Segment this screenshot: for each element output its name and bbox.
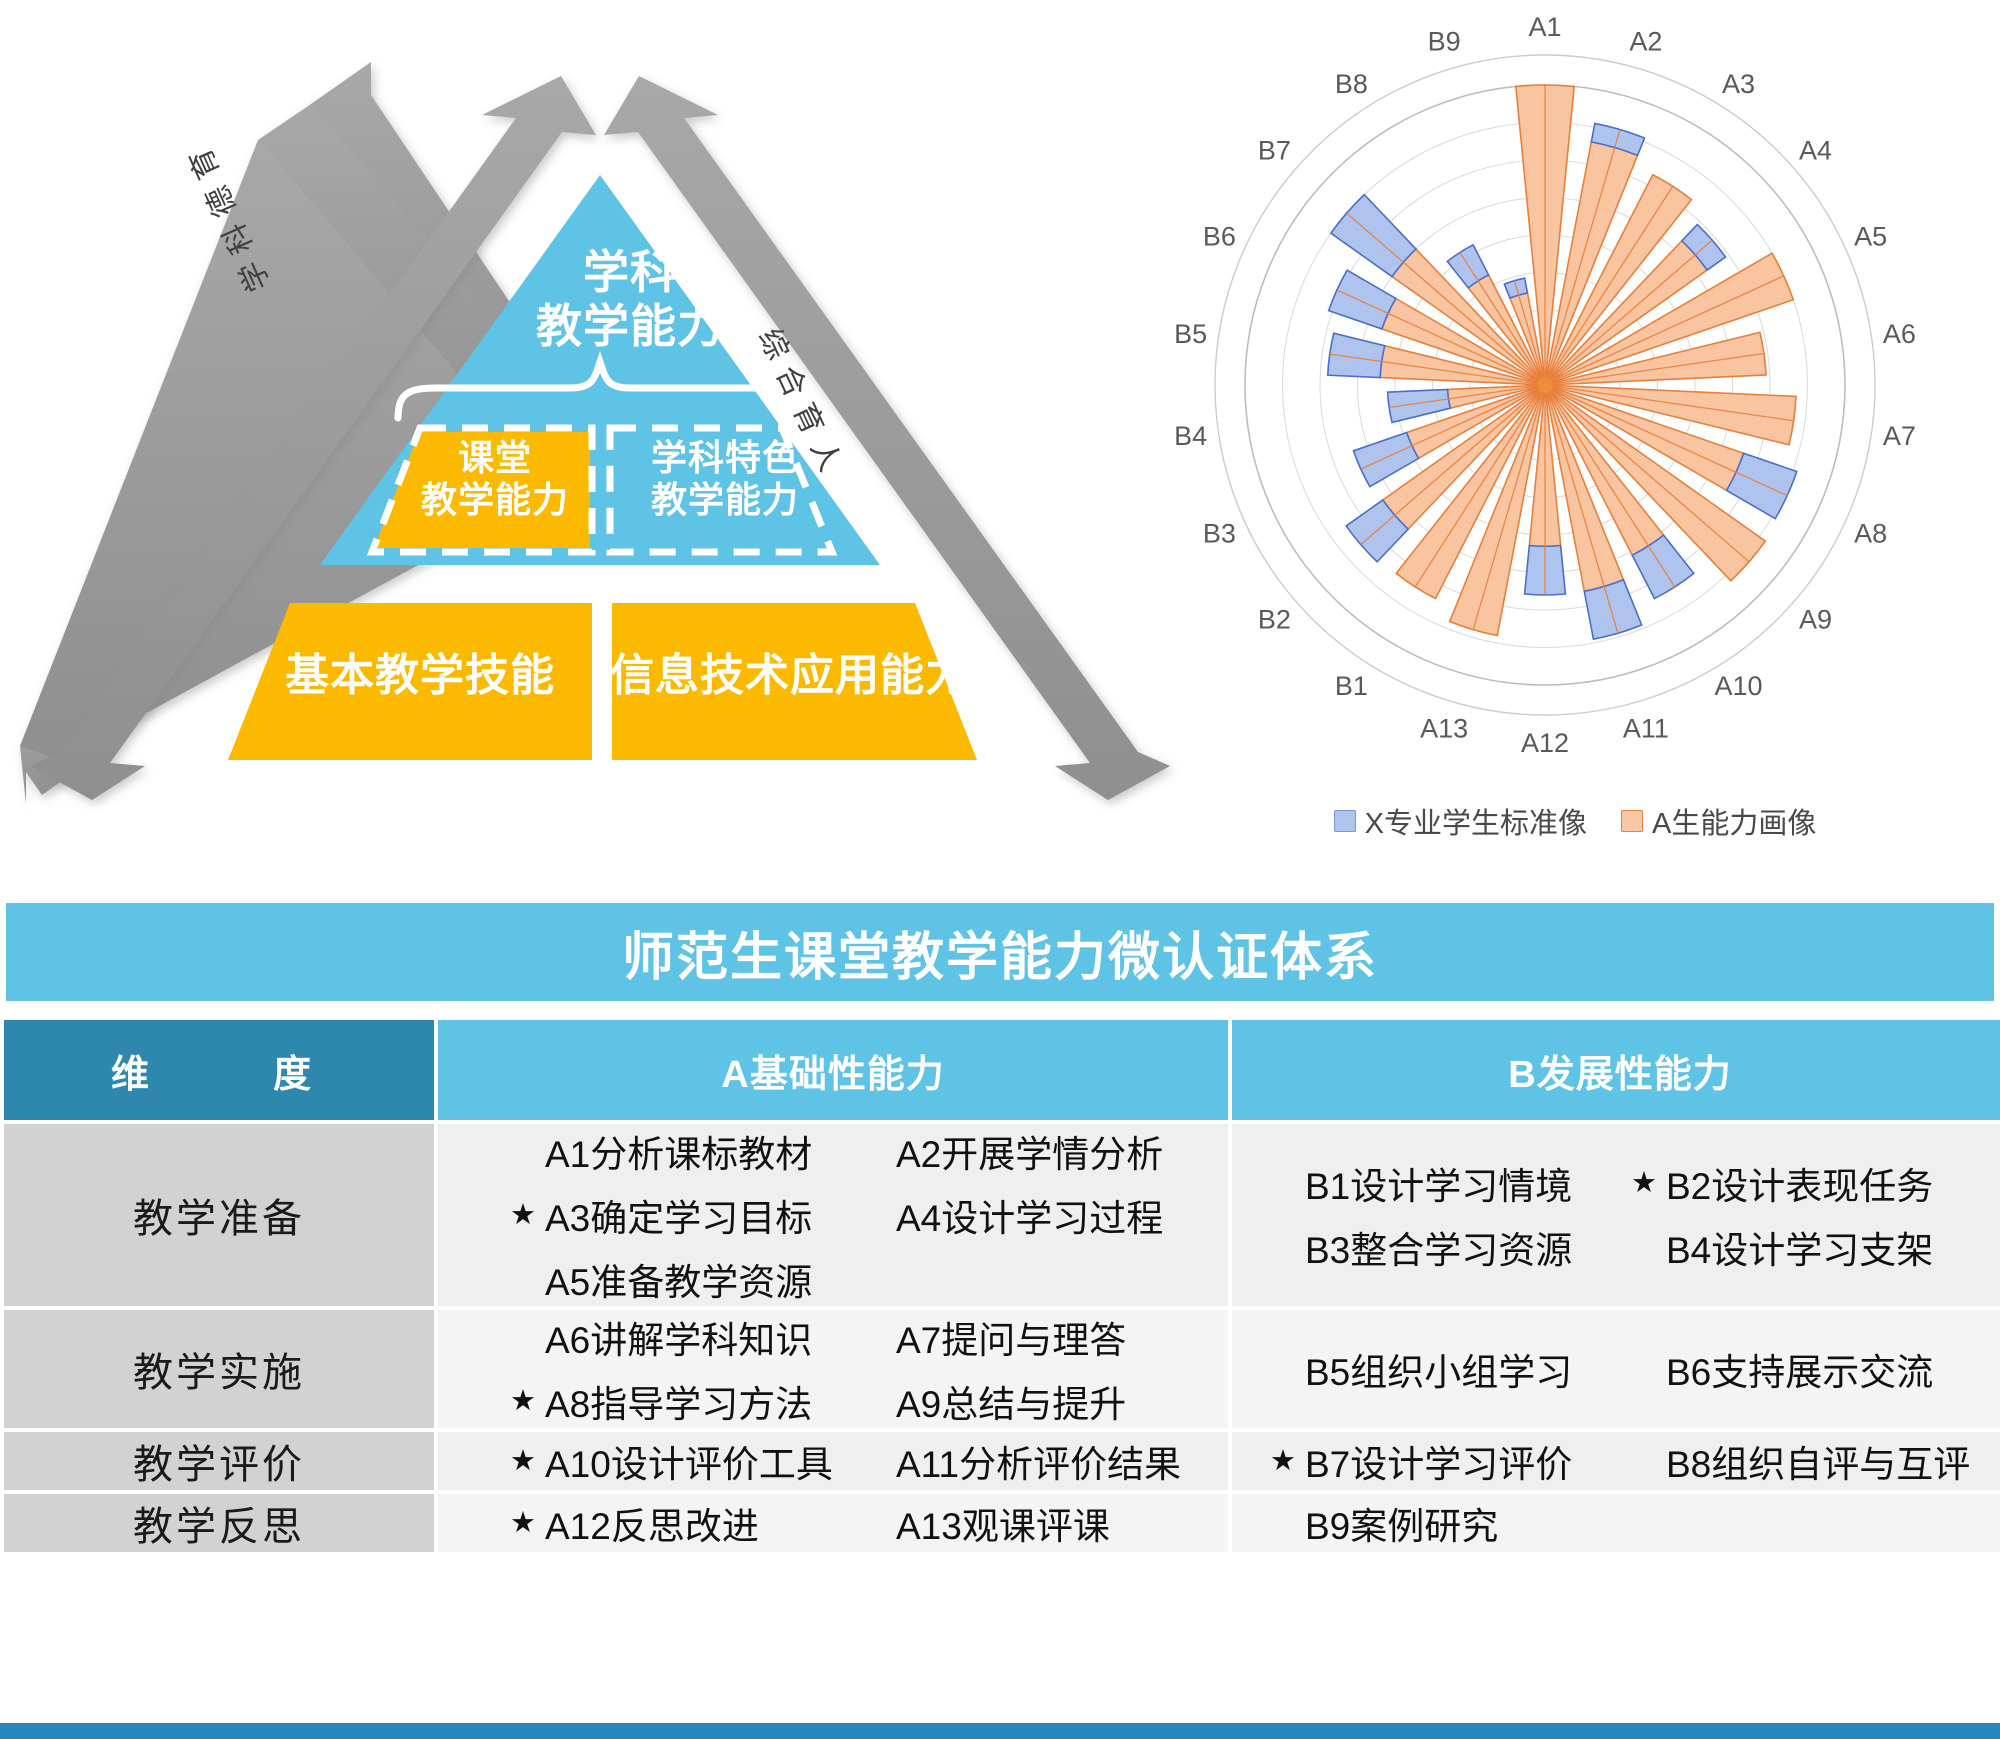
capability-item[interactable]: ★A11分析评价结果 <box>861 1434 1181 1488</box>
category-label: B1 <box>1335 671 1368 701</box>
legend-swatch-blue <box>1334 810 1356 832</box>
table-header-row: 维 度 A基础性能力 B发展性能力 <box>4 1020 2000 1120</box>
header-col-b: B发展性能力 <box>1232 1020 2000 1120</box>
category-label: B8 <box>1335 69 1368 99</box>
category-label: B4 <box>1174 421 1207 451</box>
capability-item-label: A13观课评课 <box>896 1496 1110 1550</box>
header-dimension: 维 度 <box>4 1020 434 1120</box>
polar-sector <box>1584 580 1641 639</box>
it-application-block <box>612 603 977 760</box>
table-row: 教学反思★A12反思改进★A13观课评课★B9案例研究 <box>4 1494 2000 1552</box>
category-label: A10 <box>1715 671 1763 701</box>
capability-item-label: B6支持展示交流 <box>1666 1342 1933 1396</box>
developmental-capability-cell: ★B9案例研究 <box>1232 1494 2000 1552</box>
star-icon: ★ <box>1270 1447 1296 1476</box>
capability-item-grid: ★B7设计学习评价★B8组织自评与互评 <box>1232 1434 2000 1488</box>
capability-item[interactable]: ★B8组织自评与互评 <box>1631 1434 1970 1488</box>
table-row: 教学准备★A1分析课标教材★A2开展学情分析★A3确定学习目标★A4设计学习过程… <box>4 1124 2000 1306</box>
table-row: 教学评价★A10设计评价工具★A11分析评价结果★B7设计学习评价★B8组织自评… <box>4 1432 2000 1490</box>
dimension-cell: 教学实施 <box>4 1310 434 1428</box>
capability-item-grid: ★B1设计学习情境★B2设计表现任务★B3整合学习资源★B4设计学习支架 <box>1232 1156 2000 1274</box>
capability-item-label: A4设计学习过程 <box>896 1188 1163 1242</box>
certification-table-section: 师范生课堂教学能力微认证体系 维 度 A基础性能力 B发展性能力 教学准备★A1… <box>0 885 2000 1739</box>
polar-sector <box>1329 270 1396 329</box>
capability-item-label: A9总结与提升 <box>896 1374 1126 1428</box>
base-blocks <box>228 603 977 760</box>
star-icon: ★ <box>510 1387 536 1416</box>
capability-item[interactable]: ★A6讲解学科知识 <box>510 1310 812 1364</box>
capability-item[interactable]: ★B9案例研究 <box>1270 1496 1498 1550</box>
capability-item[interactable]: ★B1设计学习情境 <box>1270 1156 1572 1210</box>
capability-item-label: B7设计学习评价 <box>1305 1434 1572 1488</box>
capability-item-label: B4设计学习支架 <box>1666 1220 1933 1274</box>
developmental-capability-cell: ★B5组织小组学习★B6支持展示交流 <box>1232 1310 2000 1428</box>
basic-capability-cell: ★A6讲解学科知识★A7提问与理答★A8指导学习方法★A9总结与提升 <box>438 1310 1228 1428</box>
capability-item-label: B9案例研究 <box>1305 1496 1498 1550</box>
category-label: A5 <box>1854 221 1887 251</box>
polar-sector <box>1353 433 1418 487</box>
capability-item[interactable]: ★B7设计学习评价 <box>1270 1434 1572 1488</box>
category-label: A8 <box>1854 519 1887 549</box>
category-label: A13 <box>1420 713 1468 743</box>
category-label: A4 <box>1799 136 1832 166</box>
legend-entry-standard[interactable]: X专业学生标准像 <box>1334 800 1587 842</box>
category-label: A11 <box>1623 713 1669 743</box>
star-icon: ★ <box>510 1447 536 1476</box>
capability-item-grid: ★B5组织小组学习★B6支持展示交流 <box>1232 1342 2000 1396</box>
capability-item[interactable]: ★B4设计学习支架 <box>1631 1220 1933 1274</box>
dimension-cell: 教学准备 <box>4 1124 434 1306</box>
capability-item-label: B5组织小组学习 <box>1305 1342 1572 1396</box>
category-label: B9 <box>1428 27 1461 57</box>
capability-item[interactable]: ★B5组织小组学习 <box>1270 1342 1572 1396</box>
star-icon: ★ <box>1631 1169 1657 1198</box>
category-label: B7 <box>1258 136 1291 166</box>
capability-item-label: A11分析评价结果 <box>896 1434 1181 1488</box>
category-label: B5 <box>1174 319 1207 349</box>
category-label: A9 <box>1799 604 1832 634</box>
developmental-capability-cell: ★B7设计学习评价★B8组织自评与互评 <box>1232 1432 2000 1490</box>
capability-item[interactable]: ★B6支持展示交流 <box>1631 1342 1933 1396</box>
capability-item-label: A1分析课标教材 <box>545 1124 812 1178</box>
capability-item-grid: ★B9案例研究 <box>1232 1496 2000 1550</box>
capability-item[interactable]: ★B2设计表现任务 <box>1631 1156 1933 1210</box>
basic-capability-cell: ★A12反思改进★A13观课评课 <box>438 1494 1228 1552</box>
legend-swatch-orange <box>1621 810 1643 832</box>
category-label: B2 <box>1258 604 1291 634</box>
capability-item-label: A12反思改进 <box>545 1496 759 1550</box>
capability-item[interactable]: ★A4设计学习过程 <box>861 1188 1163 1242</box>
dimension-cell: 教学评价 <box>4 1432 434 1490</box>
certification-table: 维 度 A基础性能力 B发展性能力 教学准备★A1分析课标教材★A2开展学情分析… <box>0 1016 2000 1556</box>
capability-item[interactable]: ★B3整合学习资源 <box>1270 1220 1572 1274</box>
capability-item[interactable]: ★A8指导学习方法 <box>510 1374 812 1428</box>
capability-item-grid: ★A1分析课标教材★A2开展学情分析★A3确定学习目标★A4设计学习过程★A5准… <box>438 1124 1228 1306</box>
chart-center-dot <box>1537 377 1553 393</box>
star-icon: ★ <box>510 1509 536 1538</box>
capability-item-grid: ★A10设计评价工具★A11分析评价结果 <box>438 1434 1228 1488</box>
basic-skills-block <box>228 603 592 760</box>
dimension-cell: 教学反思 <box>4 1494 434 1552</box>
category-label: B3 <box>1203 519 1236 549</box>
capability-item-label: A8指导学习方法 <box>545 1374 812 1428</box>
capability-item-label: A3确定学习目标 <box>545 1188 812 1242</box>
capability-item[interactable]: ★A5准备教学资源 <box>510 1252 812 1306</box>
table-title: 师范生课堂教学能力微认证体系 <box>6 903 1994 1001</box>
capability-item-label: A6讲解学科知识 <box>545 1310 812 1364</box>
basic-capability-cell: ★A10设计评价工具★A11分析评价结果 <box>438 1432 1228 1490</box>
chart-legend: X专业学生标准像 A生能力画像 <box>1150 800 2000 842</box>
developmental-capability-cell: ★B1设计学习情境★B2设计表现任务★B3整合学习资源★B4设计学习支架 <box>1232 1124 2000 1306</box>
capability-item[interactable]: ★A12反思改进 <box>510 1496 759 1550</box>
capability-item[interactable]: ★A10设计评价工具 <box>510 1434 833 1488</box>
capability-item[interactable]: ★A2开展学情分析 <box>861 1124 1163 1178</box>
triangle-svg <box>0 0 1200 880</box>
capability-item-label: B3整合学习资源 <box>1305 1220 1572 1274</box>
infographic-root: 学科 教学能力 课堂 教学能力 学科特色 教学能力 基本教学技能 信息技术应用能… <box>0 0 2000 1739</box>
capability-item[interactable]: ★A1分析课标教材 <box>510 1124 812 1178</box>
star-icon: ★ <box>510 1201 536 1230</box>
category-label: A7 <box>1883 421 1916 451</box>
category-label: A3 <box>1722 69 1755 99</box>
polar-chart-svg: A1A2A3A4A5A6A7A8A9A10A11A12A13B1B2B3B4B5… <box>1150 10 2000 800</box>
bottom-accent-bar <box>0 1723 2000 1739</box>
legend-label-standard: X专业学生标准像 <box>1365 800 1587 842</box>
table-row: 教学实施★A6讲解学科知识★A7提问与理答★A8指导学习方法★A9总结与提升★B… <box>4 1310 2000 1428</box>
category-label: A6 <box>1883 319 1916 349</box>
capability-item[interactable]: ★A7提问与理答 <box>861 1310 1126 1364</box>
capability-item-label: A2开展学情分析 <box>896 1124 1163 1178</box>
capability-item-label: B8组织自评与互评 <box>1666 1434 1970 1488</box>
capability-item[interactable]: ★A3确定学习目标 <box>510 1188 812 1242</box>
capability-item-label: B2设计表现任务 <box>1666 1156 1933 1210</box>
legend-label-student: A生能力画像 <box>1652 800 1816 842</box>
basic-capability-cell: ★A1分析课标教材★A2开展学情分析★A3确定学习目标★A4设计学习过程★A5准… <box>438 1124 1228 1306</box>
table-body: 教学准备★A1分析课标教材★A2开展学情分析★A3确定学习目标★A4设计学习过程… <box>4 1124 2000 1552</box>
category-label: A12 <box>1521 728 1569 758</box>
category-label: A1 <box>1528 12 1561 42</box>
capability-item-label: A7提问与理答 <box>896 1310 1126 1364</box>
capability-item-label: A5准备教学资源 <box>545 1252 812 1306</box>
header-col-a: A基础性能力 <box>438 1020 1228 1120</box>
legend-entry-student[interactable]: A生能力画像 <box>1621 800 1816 842</box>
capability-item[interactable]: ★A9总结与提升 <box>861 1374 1126 1428</box>
capability-item-grid: ★A6讲解学科知识★A7提问与理答★A8指导学习方法★A9总结与提升 <box>438 1310 1228 1428</box>
category-label: A2 <box>1629 27 1662 57</box>
category-label: B6 <box>1203 221 1236 251</box>
capability-polar-chart: A1A2A3A4A5A6A7A8A9A10A11A12A13B1B2B3B4B5… <box>1150 10 2000 880</box>
capability-item-label: B1设计学习情境 <box>1305 1156 1572 1210</box>
capability-item-grid: ★A12反思改进★A13观课评课 <box>438 1496 1228 1550</box>
top-section: 学科 教学能力 课堂 教学能力 学科特色 教学能力 基本教学技能 信息技术应用能… <box>0 0 2000 880</box>
capability-item[interactable]: ★A13观课评课 <box>861 1496 1110 1550</box>
competency-triangle-diagram: 学科 教学能力 课堂 教学能力 学科特色 教学能力 基本教学技能 信息技术应用能… <box>0 0 1200 880</box>
capability-item-label: A10设计评价工具 <box>545 1434 833 1488</box>
